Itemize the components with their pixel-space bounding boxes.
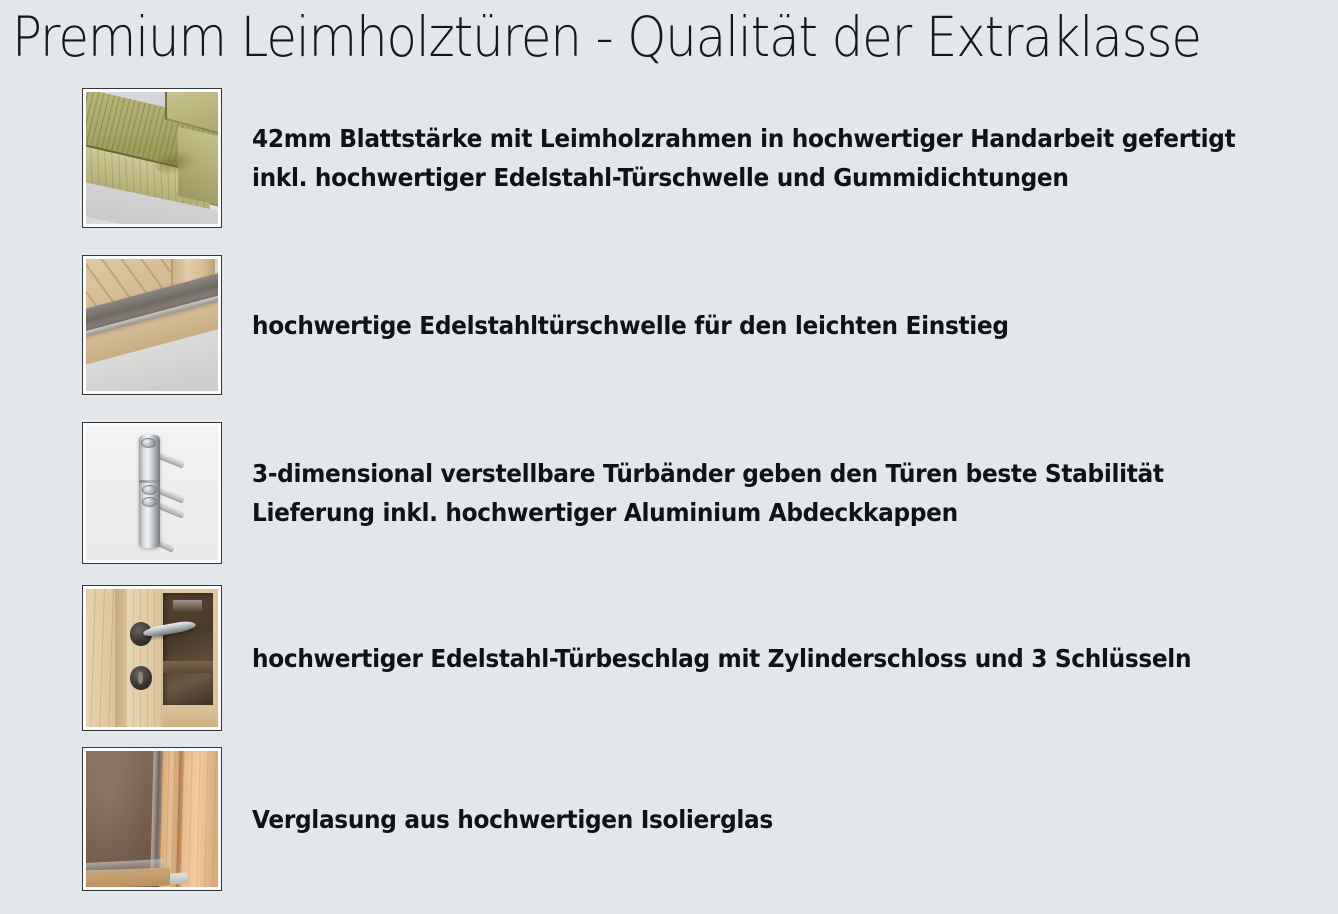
stainless-steel-threshold-photo <box>82 255 222 395</box>
feature-row: hochwertige Edelstahltürschwelle für den… <box>0 255 1338 395</box>
glazing-clip <box>170 873 188 885</box>
hinge-adjust-screw <box>142 497 157 507</box>
hinge-illustration <box>86 426 218 560</box>
feature-text: hochwertiger Edelstahl-Türbeschlag mit Z… <box>252 585 1292 731</box>
handle-illustration <box>86 589 218 727</box>
feature-text-line: hochwertige Edelstahltürschwelle für den… <box>252 306 1219 345</box>
feature-text-line: Lieferung inkl. hochwertiger Aluminium A… <box>252 493 1219 532</box>
hinge-pin <box>156 452 185 469</box>
photo-inner <box>86 259 218 391</box>
glass-crossbar <box>163 661 213 673</box>
feature-row: Verglasung aus hochwertigen Isolierglas <box>0 747 1338 891</box>
feature-text-line: 3-dimensional verstellbare Türbänder geb… <box>252 454 1219 493</box>
feature-row: 3-dimensional verstellbare Türbänder geb… <box>0 422 1338 564</box>
insulated-glazing-photo <box>82 747 222 891</box>
hinge-adjust-screw <box>142 485 157 495</box>
photo-inner <box>86 426 218 560</box>
feature-row: 42mm Blattstärke mit Leimholzrahmen in h… <box>0 88 1338 228</box>
hinge-barrel-seam <box>139 480 160 483</box>
hinge-pin <box>156 487 185 504</box>
photo-inner <box>86 589 218 727</box>
feature-text: Verglasung aus hochwertigen Isolierglas <box>252 747 1292 891</box>
door-stile-middle <box>115 589 126 727</box>
feature-text: hochwertige Edelstahltürschwelle für den… <box>252 255 1292 395</box>
door-edge-glulam-photo <box>82 88 222 228</box>
feature-row: hochwertiger Edelstahl-Türbeschlag mit Z… <box>0 585 1338 731</box>
product-feature-sheet: Premium Leimholztüren - Qualität der Ext… <box>0 0 1338 914</box>
feature-text-line: 42mm Blattstärke mit Leimholzrahmen in h… <box>252 119 1219 158</box>
page-title: Premium Leimholztüren - Qualität der Ext… <box>12 4 1207 70</box>
glass-reflection <box>173 600 202 611</box>
photo-inner <box>86 751 218 887</box>
feature-text-line: hochwertiger Edelstahl-Türbeschlag mit Z… <box>252 639 1219 678</box>
door-bottom-rail <box>163 705 218 727</box>
glazing-illustration <box>86 751 218 887</box>
wood-frame-outer <box>181 751 218 887</box>
door-handle-lock-photo <box>82 585 222 731</box>
threshold-illustration <box>86 259 218 391</box>
feature-text-line: Verglasung aus hochwertigen Isolierglas <box>252 800 1219 839</box>
hinge-adjust-screw <box>141 438 156 448</box>
feature-text: 42mm Blattstärke mit Leimholzrahmen in h… <box>252 88 1292 228</box>
door-stile-right <box>126 589 163 727</box>
adjustable-hinge-photo <box>82 422 222 564</box>
photo-inner <box>86 92 218 224</box>
feature-text: 3-dimensional verstellbare Türbänder geb… <box>252 422 1292 564</box>
hinge-pin <box>156 501 185 518</box>
wood-edge-illustration <box>86 92 218 224</box>
door-stile-left <box>86 589 115 727</box>
feature-text-line: inkl. hochwertiger Edelstahl-Türschwelle… <box>252 158 1219 197</box>
